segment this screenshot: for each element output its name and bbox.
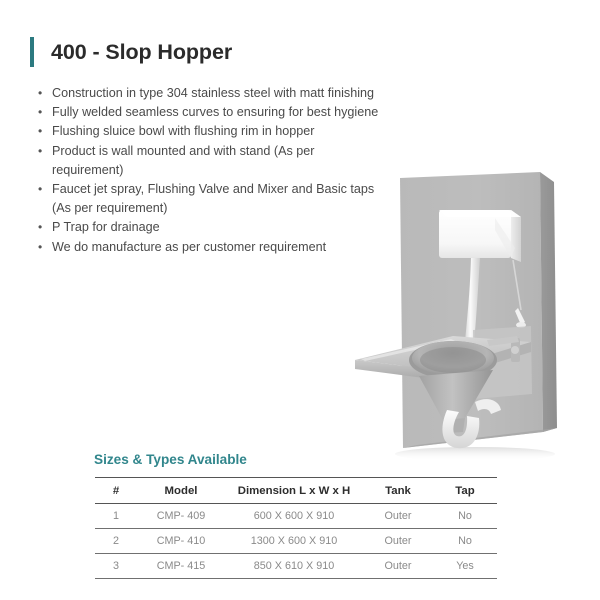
cell-model: CMP- 409 — [137, 504, 225, 529]
cell-dimension: 600 X 600 X 910 — [225, 504, 363, 529]
cell-num: 1 — [95, 504, 137, 529]
column-header-tap: Tap — [433, 478, 497, 504]
list-item: Flushing sluice bowl with flushing rim i… — [38, 122, 388, 141]
cell-tank: Outer — [363, 504, 433, 529]
table-row: 2 CMP- 410 1300 X 600 X 910 Outer No — [95, 529, 497, 554]
cell-model: CMP- 415 — [137, 554, 225, 579]
cell-num: 3 — [95, 554, 137, 579]
cell-tap: No — [433, 529, 497, 554]
table-row: 1 CMP- 409 600 X 600 X 910 Outer No — [95, 504, 497, 529]
cell-tap: No — [433, 504, 497, 529]
cell-tap: Yes — [433, 554, 497, 579]
cell-dimension: 850 X 610 X 910 — [225, 554, 363, 579]
list-item: Construction in type 304 stainless steel… — [38, 84, 388, 103]
cell-tank: Outer — [363, 554, 433, 579]
cell-num: 2 — [95, 529, 137, 554]
column-header-num: # — [95, 478, 137, 504]
page-title: 400 - Slop Hopper — [30, 36, 232, 68]
column-header-dimension: Dimension L x W x H — [225, 478, 363, 504]
cell-dimension: 1300 X 600 X 910 — [225, 529, 363, 554]
sizes-section-heading: Sizes & Types Available — [94, 452, 247, 467]
column-header-tank: Tank — [363, 478, 433, 504]
product-image — [335, 170, 585, 460]
title-accent-bar — [30, 37, 34, 67]
page-title-text: 400 - Slop Hopper — [51, 40, 232, 65]
table-row: 3 CMP- 415 850 X 610 X 910 Outer Yes — [95, 554, 497, 579]
cistern — [439, 210, 521, 262]
sizes-table: # Model Dimension L x W x H Tank Tap 1 C… — [95, 477, 497, 579]
table-header-row: # Model Dimension L x W x H Tank Tap — [95, 478, 497, 504]
cell-model: CMP- 410 — [137, 529, 225, 554]
cell-tank: Outer — [363, 529, 433, 554]
column-header-model: Model — [137, 478, 225, 504]
list-item: Fully welded seamless curves to ensuring… — [38, 103, 388, 122]
